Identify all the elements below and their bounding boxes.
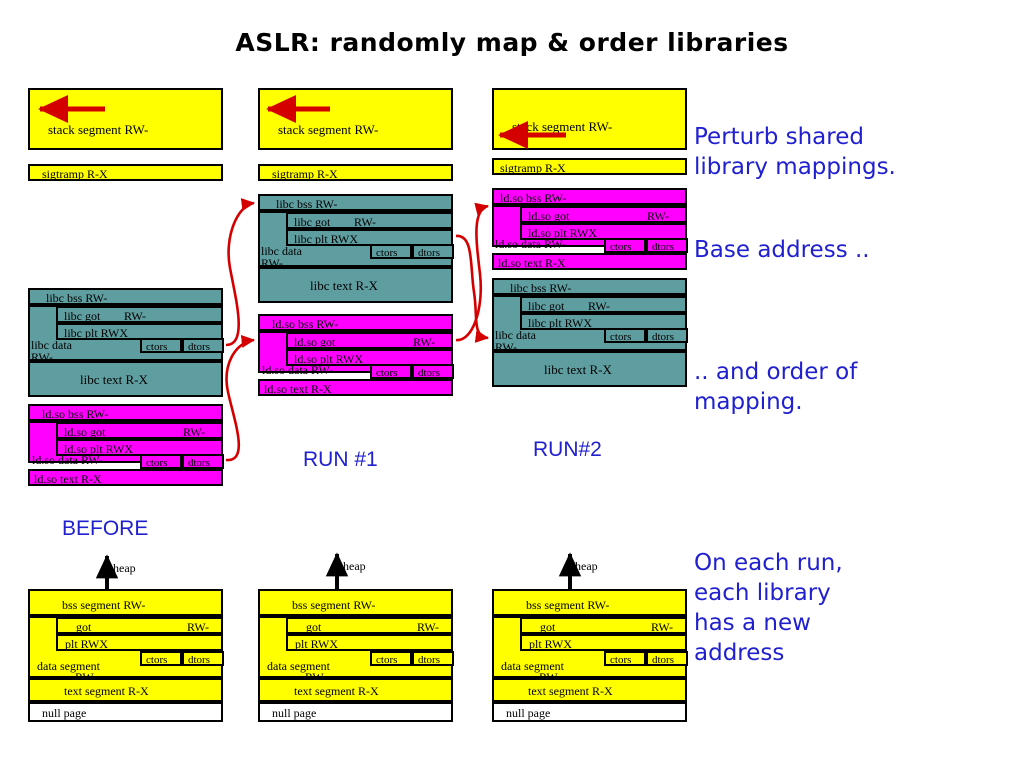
col3-sigtramp-label: sigtramp R-X bbox=[500, 161, 566, 175]
bottom1-got-label: got bbox=[76, 620, 91, 634]
bottom3-ctors-label: ctors bbox=[610, 653, 631, 667]
bottom2-dtors-label: dtors bbox=[418, 653, 440, 667]
bottom1-text-segment-label: text segment R-X bbox=[64, 684, 149, 698]
col2-libc-bss-label: libc bss RW- bbox=[276, 197, 337, 211]
bottom2-bss-segment-label: bss segment RW- bbox=[292, 598, 375, 612]
col1-libc-bss-label: libc bss RW- bbox=[46, 291, 107, 305]
col3-libc-text-label: libc text R-X bbox=[544, 363, 612, 377]
page-title: ASLR: randomly map & order libraries bbox=[0, 28, 1024, 57]
col1-ldso-bss-label: ld.so bss RW- bbox=[42, 407, 108, 421]
col1-libc-plt-label: libc plt RWX bbox=[64, 326, 128, 340]
col3-libc-plt-label: libc plt RWX bbox=[528, 316, 592, 330]
bottom1-got-perm: RW- bbox=[187, 620, 209, 634]
bottom3-heap-label: heap bbox=[575, 559, 598, 573]
col3-libc-bss-label: libc bss RW- bbox=[510, 281, 571, 295]
col2-sigtramp-label: sigtramp R-X bbox=[272, 167, 338, 181]
bottom1-ctors-label: ctors bbox=[146, 653, 167, 667]
bottom2-got-label: got bbox=[306, 620, 321, 634]
bottom2-ctors-label: ctors bbox=[376, 653, 397, 667]
remap-arrow-ldso-before-to-run1 bbox=[226, 340, 254, 460]
bottom3-plt-label: plt RWX bbox=[529, 637, 572, 651]
col1-ldso-plt-label: ld.so plt RWX bbox=[64, 442, 133, 456]
col1-ldso-text-label: ld.so text R-X bbox=[34, 472, 102, 486]
bottom3-dtors-label: dtors bbox=[652, 653, 674, 667]
col3-libc-dtors-label: dtors bbox=[652, 330, 674, 344]
note-base-address: Base address .. bbox=[694, 235, 870, 265]
col2-ldso-plt-label: ld.so plt RWX bbox=[294, 352, 363, 366]
bottom3-text-segment-label: text segment R-X bbox=[528, 684, 613, 698]
note-order: .. and order of mapping. bbox=[694, 357, 857, 417]
col2-libc-text-label: libc text R-X bbox=[310, 279, 378, 293]
col3-ldso-got-label: ld.so got bbox=[528, 209, 569, 223]
col1-libc-got-perm: RW- bbox=[124, 309, 146, 323]
col2-ldso-bss-label: ld.so bss RW- bbox=[272, 317, 338, 331]
col3-ldso-text-label: ld.so text R-X bbox=[498, 256, 566, 270]
col3-ldso-got-perm: RW- bbox=[647, 209, 669, 223]
col1-ldso-got-perm: RW- bbox=[183, 425, 205, 439]
col1-ldso-got-label: ld.so got bbox=[64, 425, 105, 439]
bottom1-plt-label: plt RWX bbox=[65, 637, 108, 651]
col1-ldso-ctors-label: ctors bbox=[146, 456, 167, 470]
col2-stack-segment-label: stack segment RW- bbox=[278, 123, 378, 137]
col2-ldso-dtors-label: dtors bbox=[418, 366, 440, 380]
remap-arrow-ldso-run1-to-run2 bbox=[456, 206, 488, 340]
bottom2-heap-label: heap bbox=[343, 559, 366, 573]
caption-run1: RUN #1 bbox=[303, 448, 378, 472]
note-each-run: On each run, each library has a new addr… bbox=[694, 548, 843, 668]
col3-libc-got-perm: RW- bbox=[588, 299, 610, 313]
col2-ldso-got-perm: RW- bbox=[413, 335, 435, 349]
col3-ldso-plt-label: ld.so plt RWX bbox=[528, 226, 597, 240]
col3-ldso-ctors-label: ctors bbox=[610, 240, 631, 254]
bottom2-plt-label: plt RWX bbox=[295, 637, 338, 651]
bottom2-null-page-label: null page bbox=[272, 706, 316, 720]
bottom1-heap-label: heap bbox=[113, 561, 136, 575]
bottom2-text-segment-label: text segment R-X bbox=[294, 684, 379, 698]
col2-libc-got-perm: RW- bbox=[354, 215, 376, 229]
col1-stack-segment-label: stack segment RW- bbox=[48, 123, 148, 137]
col1-libc-got-label: libc got bbox=[64, 309, 100, 323]
col2-libc-ctors-label: ctors bbox=[376, 246, 397, 260]
note-perturb: Perturb shared library mappings. bbox=[694, 122, 896, 182]
col1-libc-ctors-label: ctors bbox=[146, 340, 167, 354]
bottom1-dtors-label: dtors bbox=[188, 653, 210, 667]
col1-libc-text-label: libc text R-X bbox=[80, 373, 148, 387]
col2-stack-segment bbox=[258, 88, 453, 150]
col1-stack-segment bbox=[28, 88, 223, 150]
col3-libc-got-label: libc got bbox=[528, 299, 564, 313]
col1-libc-dtors-label: dtors bbox=[188, 340, 210, 354]
bottom1-bss-segment-label: bss segment RW- bbox=[62, 598, 145, 612]
col2-ldso-ctors-label: ctors bbox=[376, 366, 397, 380]
caption-before: BEFORE bbox=[62, 517, 148, 541]
col2-libc-got-label: libc got bbox=[294, 215, 330, 229]
remap-arrow-libc-run1-to-run2 bbox=[456, 236, 488, 338]
bottom1-null-page-label: null page bbox=[42, 706, 86, 720]
col1-sigtramp-label: sigtramp R-X bbox=[42, 167, 108, 181]
remap-arrow-libc-before-to-run1 bbox=[226, 203, 254, 345]
bottom3-got-perm: RW- bbox=[651, 620, 673, 634]
bottom3-null-page-label: null page bbox=[506, 706, 550, 720]
caption-run2: RUN#2 bbox=[533, 438, 602, 462]
slide-canvas: ASLR: randomly map & order libraries sta… bbox=[0, 0, 1024, 768]
bottom3-bss-segment-label: bss segment RW- bbox=[526, 598, 609, 612]
col3-stack-segment-label: stack segment RW- bbox=[512, 120, 612, 134]
col2-ldso-text-label: ld.so text R-X bbox=[264, 382, 332, 396]
col3-libc-ctors-label: ctors bbox=[610, 330, 631, 344]
col2-ldso-got-label: ld.so got bbox=[294, 335, 335, 349]
col3-ldso-dtors-label: dtors bbox=[652, 240, 674, 254]
col3-ldso-bss-label: ld.so bss RW- bbox=[500, 191, 566, 205]
col2-libc-dtors-label: dtors bbox=[418, 246, 440, 260]
bottom3-got-label: got bbox=[540, 620, 555, 634]
col2-libc-plt-label: libc plt RWX bbox=[294, 232, 358, 246]
bottom2-got-perm: RW- bbox=[417, 620, 439, 634]
col1-ldso-dtors-label: dtors bbox=[188, 456, 210, 470]
